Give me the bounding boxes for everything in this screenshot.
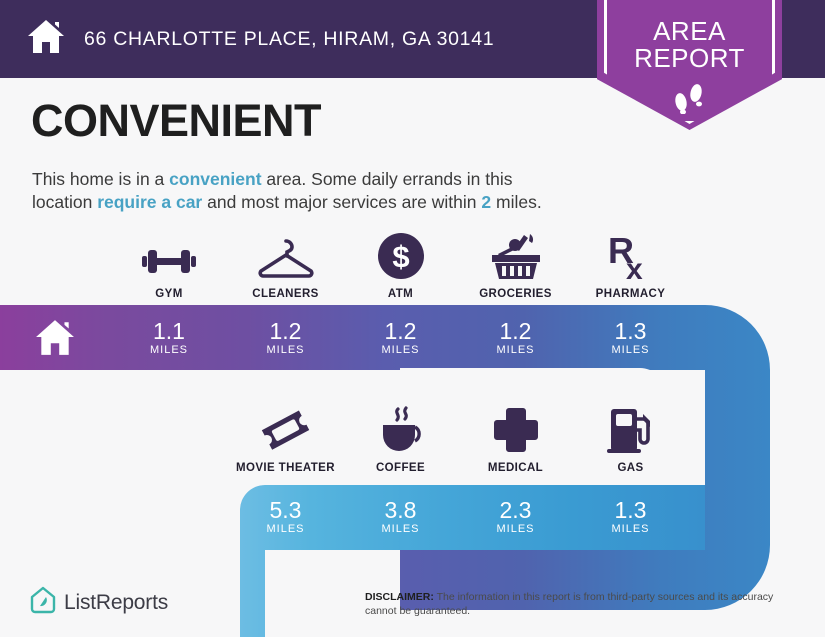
distance-value-coffee: 3.8 — [385, 498, 417, 522]
page-subtitle: This home is in a convenient area. Some … — [32, 168, 577, 214]
distance-unit-atm: MILES — [381, 344, 419, 356]
subtitle-highlight-1: convenient — [169, 169, 261, 189]
row2-item-medical: MEDICAL — [458, 392, 573, 474]
distance-unit-gym: MILES — [150, 344, 188, 356]
gas-pump-icon — [605, 403, 657, 455]
hanger-icon — [255, 229, 317, 281]
row2-label-medical: MEDICAL — [488, 462, 543, 474]
distance-value-groceries: 1.2 — [500, 319, 532, 343]
row2-label-coffee: COFFEE — [376, 462, 425, 474]
row2-label-movie-theater: MOVIE THEATER — [236, 462, 335, 474]
subtitle-highlight-2: require a car — [97, 192, 202, 212]
distance-value-atm: 1.2 — [385, 319, 417, 343]
row2-item-coffee: COFFEE — [343, 392, 458, 474]
distance-unit-medical: MILES — [496, 523, 534, 535]
row1-label-pharmacy: PHARMACY — [596, 288, 666, 300]
row1-item-cleaners: CLEANERS — [228, 218, 343, 300]
subtitle-part-4: miles. — [491, 192, 542, 212]
distance-unit-movie-theater: MILES — [266, 523, 304, 535]
distance-cell-coffee: 3.8 MILES — [343, 487, 458, 545]
svg-text:x: x — [626, 253, 643, 281]
row1-icon-strip: GYM CLEANERS $ ATM — [0, 218, 825, 300]
distance-unit-pharmacy: MILES — [611, 344, 649, 356]
movie-ticket-icon — [259, 403, 313, 455]
listreports-house-icon — [30, 586, 56, 619]
badge-text: AREA REPORT — [597, 18, 782, 72]
badge-line-1: AREA — [597, 18, 782, 45]
distance-value-gym: 1.1 — [153, 319, 185, 343]
distance-unit-gas: MILES — [611, 523, 649, 535]
distance-value-movie-theater: 5.3 — [270, 498, 302, 522]
footprints-icon — [670, 80, 710, 119]
page-title: CONVENIENT — [31, 96, 321, 146]
distance-cell-pharmacy: 1.3 MILES — [573, 305, 688, 370]
distance-unit-cleaners: MILES — [266, 344, 304, 356]
property-address: 66 CHARLOTTE PLACE, HIRAM, GA 30141 — [84, 28, 494, 51]
disclaimer: DISCLAIMER: The information in this repo… — [365, 590, 790, 618]
distance-cell-medical: 2.3 MILES — [458, 487, 573, 545]
row1-label-cleaners: CLEANERS — [252, 288, 318, 300]
distance-cell-gym: 1.1 MILES — [110, 305, 228, 370]
distance-value-pharmacy: 1.3 — [615, 319, 647, 343]
row2-item-gas: GAS — [573, 392, 688, 474]
home-icon — [26, 18, 66, 61]
distance-cell-groceries: 1.2 MILES — [458, 305, 573, 370]
listreports-wordmark: ListReports — [64, 591, 168, 615]
medical-cross-icon — [491, 403, 541, 455]
row2-item-movie-theater: MOVIE THEATER — [228, 392, 343, 474]
badge-line-2: REPORT — [597, 45, 782, 72]
row1-label-groceries: GROCERIES — [479, 288, 552, 300]
area-report-badge: AREA REPORT — [597, 0, 782, 130]
dollar-circle-icon: $ — [376, 229, 426, 281]
dumbbell-icon — [139, 229, 199, 281]
row1-item-atm: $ ATM — [343, 218, 458, 300]
row2-icon-strip: MOVIE THEATER COFFEE MEDICAL — [0, 392, 825, 474]
listreports-logo: ListReports — [30, 586, 168, 619]
grocery-basket-icon — [488, 229, 544, 281]
distance-unit-groceries: MILES — [496, 344, 534, 356]
disclaimer-label: DISCLAIMER: — [365, 591, 434, 603]
row2-label-gas: GAS — [617, 462, 643, 474]
prescription-rx-icon: R x — [606, 229, 656, 281]
subtitle-highlight-3: 2 — [481, 192, 491, 212]
area-report-infographic: 66 CHARLOTTE PLACE, HIRAM, GA 30141 AREA… — [0, 0, 825, 637]
distance-value-cleaners: 1.2 — [270, 319, 302, 343]
svg-text:$: $ — [392, 239, 409, 274]
home-icon — [33, 318, 77, 358]
row1-item-groceries: GROCERIES — [458, 218, 573, 300]
distance-cell-cleaners: 1.2 MILES — [228, 305, 343, 370]
distance-cell-gas: 1.3 MILES — [573, 487, 688, 545]
coffee-cup-icon — [373, 403, 429, 455]
distance-cell-atm: 1.2 MILES — [343, 305, 458, 370]
subtitle-part-3: and most major services are within — [202, 192, 481, 212]
subtitle-part-1: This home is in a — [32, 169, 169, 189]
distance-value-gas: 1.3 — [615, 498, 647, 522]
row1-item-pharmacy: R x PHARMACY — [573, 218, 688, 300]
distance-cell-movie-theater: 5.3 MILES — [228, 487, 343, 545]
row1-item-gym: GYM — [110, 218, 228, 300]
distance-value-medical: 2.3 — [500, 498, 532, 522]
home-marker-cell — [0, 305, 110, 370]
row1-label-gym: GYM — [155, 288, 182, 300]
row1-label-atm: ATM — [388, 288, 413, 300]
distance-unit-coffee: MILES — [381, 523, 419, 535]
